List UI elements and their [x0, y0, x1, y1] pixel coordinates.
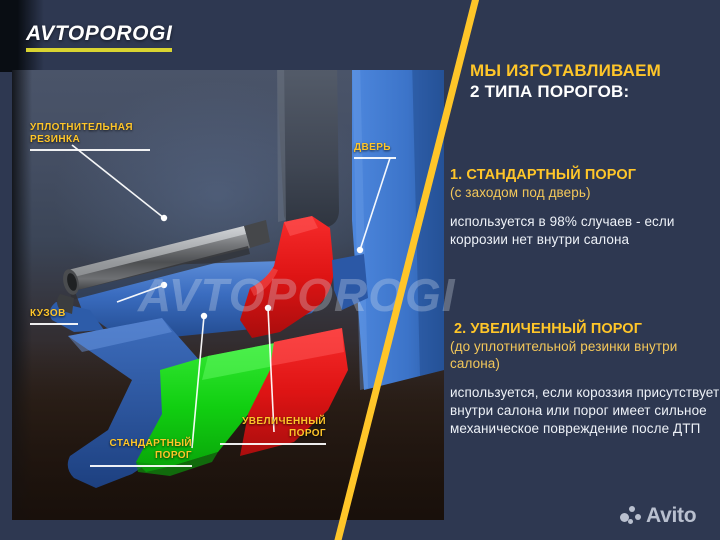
- headline: МЫ ИЗГОТАВЛИВАЕМ 2 ТИПА ПОРОГОВ:: [470, 60, 716, 102]
- callout-standard-sill: СТАНДАРТНЫЙ ПОРОГ: [90, 438, 192, 467]
- brand-logo-underline: [26, 48, 172, 52]
- section-enlarged-sill: 2. УВЕЛИЧЕННЫЙ ПОРОГ (до уплотнительной …: [450, 320, 720, 438]
- callout-standard-sill-underline: [90, 465, 192, 467]
- callout-body: КУЗОВ: [30, 308, 78, 325]
- text-column: МЫ ИЗГОТАВЛИВАЕМ 2 ТИПА ПОРОГОВ: 1. СТАН…: [404, 0, 720, 540]
- section-enlarged-body: используется, если короззия присутствует…: [450, 384, 720, 438]
- callout-seal: УПЛОТНИТЕЛЬНАЯ РЕЗИНКА: [30, 122, 150, 151]
- section-standard-sill: 1. СТАНДАРТНЫЙ ПОРОГ (с заходом под двер…: [450, 166, 720, 249]
- brand-logo: AVTOPOROGI: [26, 22, 172, 52]
- callout-body-label: КУЗОВ: [30, 308, 78, 320]
- headline-line-1: МЫ ИЗГОТАВЛИВАЕМ: [470, 60, 716, 81]
- callout-body-underline: [30, 323, 78, 325]
- section-enlarged-title: 2. УВЕЛИЧЕННЫЙ ПОРОГ: [454, 320, 720, 338]
- callout-door-underline: [354, 157, 396, 159]
- callout-seal-label: УПЛОТНИТЕЛЬНАЯ РЕЗИНКА: [30, 122, 150, 146]
- section-standard-subtitle: (с заходом под дверь): [450, 184, 720, 201]
- callout-standard-sill-label: СТАНДАРТНЫЙ ПОРОГ: [90, 438, 192, 462]
- avito-dots-icon: [620, 505, 642, 525]
- avito-logo-text: Avito: [646, 505, 696, 526]
- brand-logo-text: AVTOPOROGI: [26, 22, 172, 46]
- callout-seal-underline: [30, 149, 150, 151]
- avito-logo: Avito: [620, 500, 712, 530]
- callout-door-label: ДВЕРЬ: [354, 142, 396, 154]
- callout-enlarged-sill-label: УВЕЛИЧЕННЫЙ ПОРОГ: [220, 416, 326, 440]
- advert-image: AVTOPOROGI: [0, 0, 720, 540]
- section-standard-title: 1. СТАНДАРТНЫЙ ПОРОГ: [450, 166, 720, 184]
- section-standard-body: используется в 98% случаев - если корроз…: [450, 213, 720, 249]
- section-enlarged-subtitle: (до уплотнительной резинки внутри салона…: [450, 338, 720, 372]
- callout-enlarged-sill: УВЕЛИЧЕННЫЙ ПОРОГ: [220, 416, 326, 445]
- callout-door: ДВЕРЬ: [354, 142, 396, 159]
- headline-line-2: 2 ТИПА ПОРОГОВ:: [470, 81, 716, 102]
- callout-enlarged-sill-underline: [220, 443, 326, 445]
